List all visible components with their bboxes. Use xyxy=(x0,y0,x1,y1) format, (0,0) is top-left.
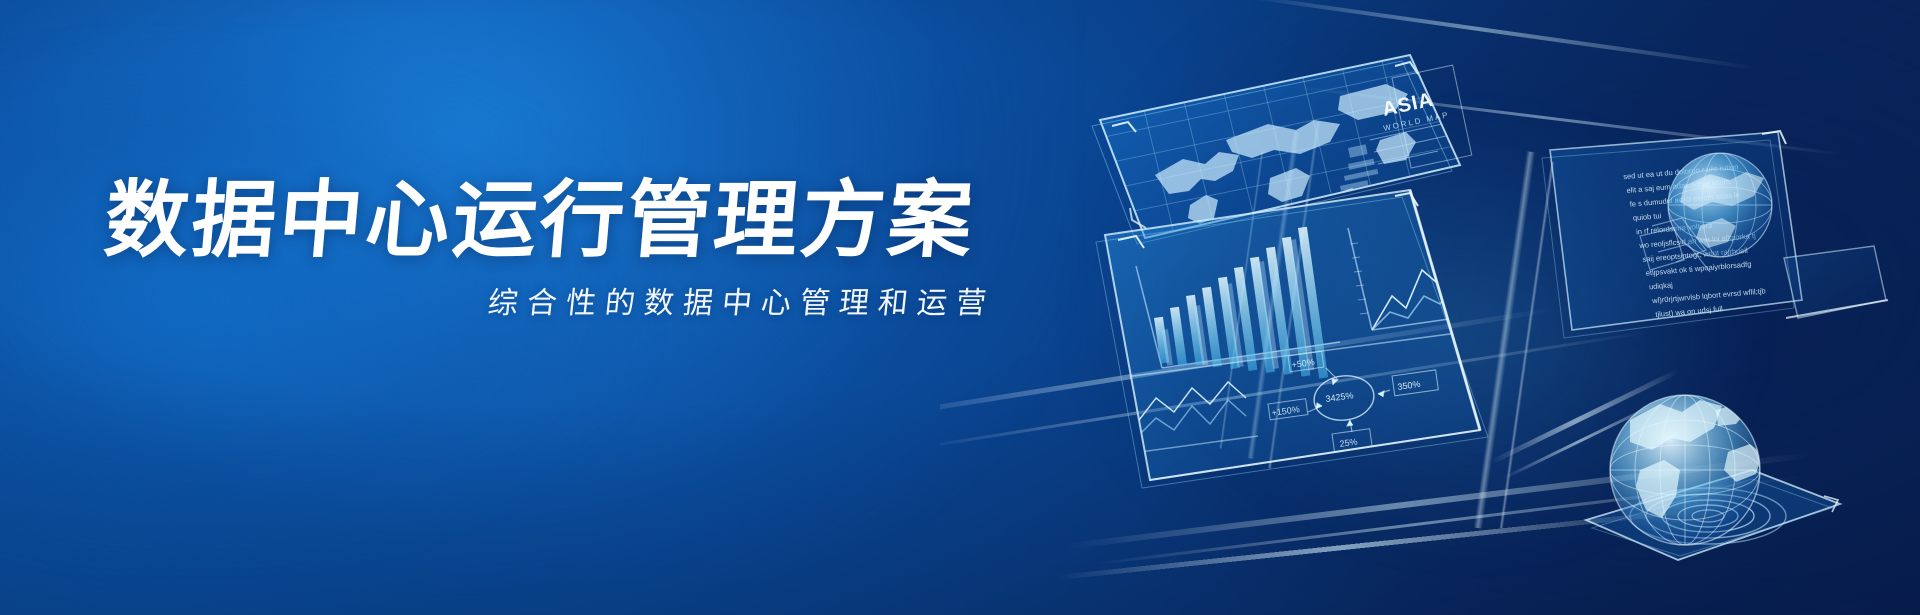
page-title: 数据中心运行管理方案 xyxy=(101,178,1008,264)
headline-block: 数据中心运行管理方案 综合性的数据中心管理和运营 xyxy=(105,178,1005,322)
page-subtitle: 综合性的数据中心管理和运营 xyxy=(103,286,1007,322)
hero-banner: ASIA WORLD MAP xyxy=(0,0,1920,615)
